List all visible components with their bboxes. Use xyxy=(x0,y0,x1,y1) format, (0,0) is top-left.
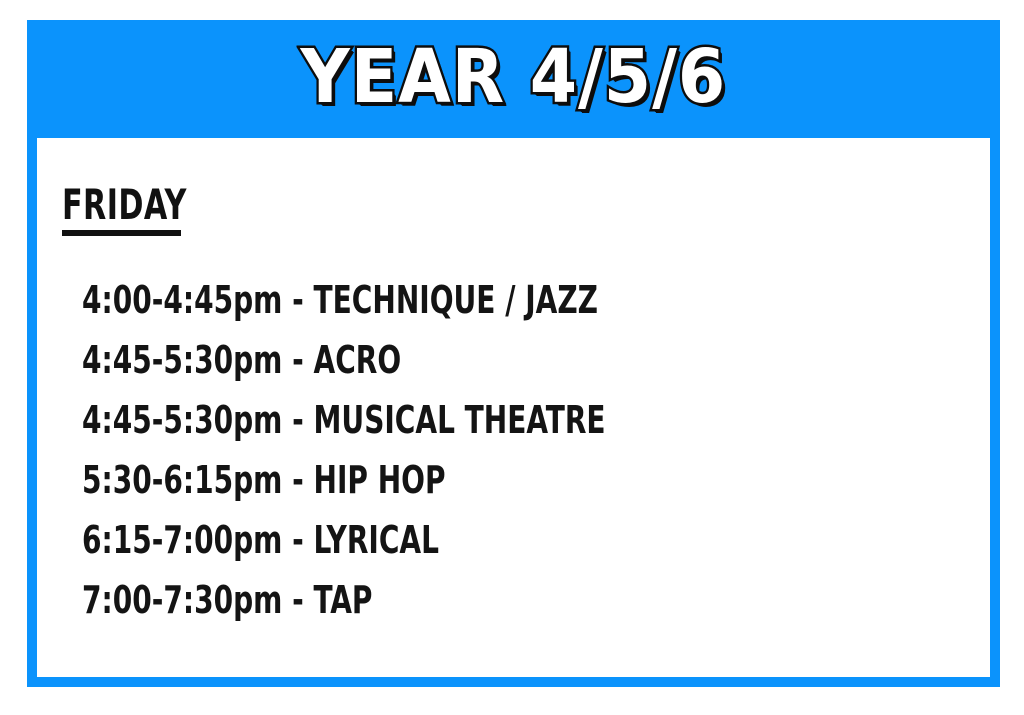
list-item: 5:30-6:15pm - HIP HOP xyxy=(82,450,606,510)
schedule-panel: FRIDAY 4:00-4:45pm - TECHNIQUE / JAZZ 4:… xyxy=(37,138,990,677)
list-item: 7:00-7:30pm - TAP xyxy=(82,570,606,630)
list-item: 6:15-7:00pm - LYRICAL xyxy=(82,510,606,570)
list-item: 4:45-5:30pm - ACRO xyxy=(82,330,606,390)
session-list: 4:00-4:45pm - TECHNIQUE / JAZZ 4:45-5:30… xyxy=(82,270,721,630)
list-item: 4:00-4:45pm - TECHNIQUE / JAZZ xyxy=(82,270,606,330)
day-heading-underline xyxy=(62,230,181,236)
day-heading: FRIDAY xyxy=(62,184,187,226)
timetable-card: YEAR 4/5/6 FRIDAY 4:00-4:45pm - TECHNIQU… xyxy=(27,20,1000,687)
page-title: YEAR 4/5/6 xyxy=(301,40,727,118)
day-heading-group: FRIDAY xyxy=(62,184,218,236)
header-banner: YEAR 4/5/6 xyxy=(27,20,1000,138)
list-item: 4:45-5:30pm - MUSICAL THEATRE xyxy=(82,390,606,450)
